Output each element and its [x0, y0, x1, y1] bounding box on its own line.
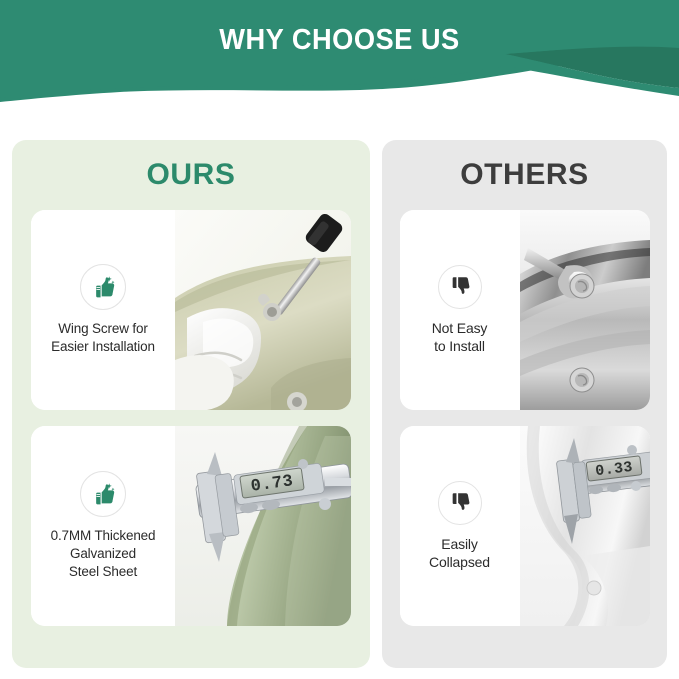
- why-choose-us-infographic: WHY CHOOSE US OURS: [0, 0, 679, 679]
- photo-caliper-measuring-thin-sheet: 0.33: [520, 426, 650, 626]
- card-label-line-2: Collapsed: [429, 554, 490, 570]
- photo-wrench-tightening-bolt: [520, 210, 650, 410]
- card-label-line-1: Easily: [441, 536, 477, 552]
- card-label: 0.7MM Thickened Galvanized Steel Sheet: [48, 527, 159, 580]
- card-label-line-2: Easier Installation: [51, 339, 155, 354]
- thumbs-down-icon-badge: [438, 481, 482, 525]
- thumbs-up-sparkle-icon: [88, 272, 118, 302]
- thumbs-up-sparkle-icon-badge: [80, 471, 126, 517]
- thumbs-down-icon: [446, 489, 473, 516]
- card-text-block: Not Easy to Install: [400, 210, 520, 410]
- card-label: Wing Screw for Easier Installation: [48, 320, 158, 356]
- card-photo-wrench-bolt: [520, 210, 650, 410]
- panel-heading-ours: OURS: [146, 158, 235, 192]
- card-photo-wing-screw: [175, 210, 351, 410]
- photo-caliper-measuring-green-sheet: 0.73: [175, 426, 351, 626]
- card-others-easily-collapsed[interactable]: Easily Collapsed: [400, 426, 650, 626]
- photo-gloved-hand-wing-screw: [175, 210, 351, 410]
- thumbs-down-icon: [446, 273, 473, 300]
- panel-ours: OURS: [12, 140, 370, 668]
- card-stack-ours: Wing Screw for Easier Installation: [12, 210, 370, 626]
- header-banner: WHY CHOOSE US: [0, 0, 679, 108]
- card-label: Easily Collapsed: [426, 535, 493, 572]
- thumbs-up-sparkle-icon-badge: [80, 264, 126, 310]
- page-title: WHY CHOOSE US: [20, 24, 658, 57]
- panel-heading-others: OTHERS: [460, 158, 589, 192]
- thumbs-up-sparkle-icon: [88, 479, 118, 509]
- thumbs-down-icon-badge: [438, 265, 482, 309]
- rivet: [587, 581, 601, 595]
- card-ours-steel-thickness[interactable]: 0.7MM Thickened Galvanized Steel Sheet: [31, 426, 351, 626]
- card-stack-others: Not Easy to Install: [382, 210, 667, 626]
- card-text-block: Wing Screw for Easier Installation: [31, 210, 175, 410]
- card-photo-caliper-green: 0.73: [175, 426, 351, 626]
- card-photo-caliper-white: 0.33: [520, 426, 650, 626]
- card-text-block: 0.7MM Thickened Galvanized Steel Sheet: [31, 426, 175, 626]
- card-label: Not Easy to Install: [429, 319, 491, 356]
- card-label-line-1: 0.7MM Thickened: [51, 528, 156, 543]
- card-label-line-1: Not Easy: [432, 320, 488, 336]
- card-label-line-1: Wing Screw for: [58, 321, 147, 336]
- card-label-line-3: Steel Sheet: [69, 564, 137, 579]
- bolt-upper: [570, 274, 594, 298]
- card-text-block: Easily Collapsed: [400, 426, 520, 626]
- comparison-columns: OURS: [12, 140, 667, 668]
- card-label-line-2: to Install: [434, 338, 485, 354]
- card-ours-wing-screw[interactable]: Wing Screw for Easier Installation: [31, 210, 351, 410]
- panel-others: OTHERS Not Easy to Install: [382, 140, 667, 668]
- card-label-line-2: Galvanized: [70, 546, 136, 561]
- card-others-hard-install[interactable]: Not Easy to Install: [400, 210, 650, 410]
- bolt-lower: [570, 368, 594, 392]
